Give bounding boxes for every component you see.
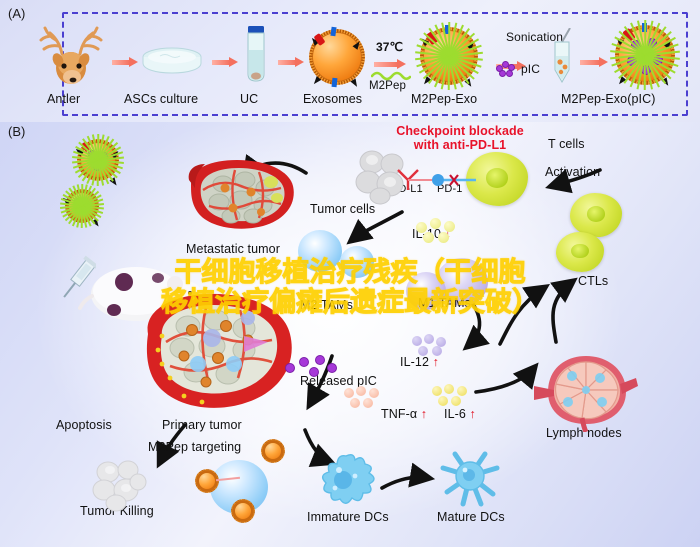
free-exosome-icon <box>66 190 98 222</box>
temperature-annotation: 37℃ <box>376 40 403 54</box>
il10-cytokine-cluster <box>416 218 458 244</box>
lymph-node-illustration <box>530 352 638 432</box>
watermark-line-1: 干细胞移植治疗残疾（干细胞 <box>0 258 700 288</box>
chinese-watermark: 干细胞移植治疗残疾（干细胞 移植治疗偏瘫后遗症最新突破） <box>0 258 700 318</box>
released-pic-cluster <box>286 356 340 378</box>
mature-dc-illustration <box>435 446 505 512</box>
pic-label: pIC <box>521 62 540 76</box>
watermark-line-2: 移植治疗偏瘫后遗症最新突破） <box>0 288 700 318</box>
process-arrow-1 <box>112 58 138 67</box>
free-exosome-icon <box>78 140 118 180</box>
tumor-killing-illustration <box>88 456 150 512</box>
panel-a-step-label-antler: Antler <box>47 92 80 106</box>
il-6-name: IL-6 <box>444 407 466 421</box>
peptide-exosome-icon <box>421 28 477 84</box>
apoptosis-label: Apoptosis <box>56 418 112 432</box>
panel-a-step-label-m2pep-exo-pic: M2Pep-Exo(pIC) <box>561 92 656 106</box>
immature-dc-illustration <box>313 450 379 512</box>
panel-a-step-label-asc: ASCs culture <box>124 92 198 106</box>
process-arrow-3 <box>278 58 304 67</box>
panel-b-label: (B) <box>8 124 25 139</box>
peptide-label: M2Pep <box>369 80 406 92</box>
panel-a: (A) Antler <box>0 0 700 122</box>
il12-cytokine-cluster <box>412 334 454 358</box>
primary-tumor-label: Primary tumor <box>162 418 242 432</box>
m2pep-targeting-label: M2Pep targeting <box>148 440 241 454</box>
t-cells-label: T cells <box>548 137 585 151</box>
loaded-exosome-icon <box>616 26 674 84</box>
targeting-exosome-icon <box>232 500 254 522</box>
panel-a-label: (A) <box>8 6 25 21</box>
checkpoint-line-1: Checkpoint blockade <box>374 124 546 138</box>
surface-marker-icon <box>332 78 338 87</box>
tnf-alpha-trend-arrow: ↑ <box>421 407 427 421</box>
sonicator-tube-icon <box>548 28 576 90</box>
metastatic-tumor-illustration <box>185 158 300 250</box>
mature-dcs-label: Mature DCs <box>437 510 505 524</box>
process-arrow-6 <box>580 58 608 67</box>
panel-a-step-label-exosomes: Exosomes <box>303 92 362 106</box>
process-arrow-2 <box>212 58 238 67</box>
exosome-icon <box>310 30 364 84</box>
il6-cytokine-cluster <box>432 384 476 408</box>
tnf-alpha-cytokine-cluster <box>344 386 388 410</box>
centrifuge-tube-icon <box>243 26 269 84</box>
pd-l1-pd-1-interaction <box>392 166 482 194</box>
deer-icon <box>36 24 110 86</box>
il-6-cytokine-label: IL-6 ↑ <box>444 407 476 421</box>
petri-dish-icon <box>140 44 204 76</box>
pic-cluster-icon <box>497 62 519 78</box>
il-6-trend-arrow: ↑ <box>470 407 476 421</box>
panel-a-step-label-m2pep-exo: M2Pep-Exo <box>411 92 477 106</box>
activation-label: Activation <box>545 165 600 179</box>
figure-canvas: (A) Antler <box>0 0 700 547</box>
targeting-exosome-icon <box>262 440 284 462</box>
immature-dcs-label: Immature DCs <box>307 510 389 524</box>
ctl-cell-illustration <box>570 193 622 237</box>
panel-a-step-label-uc: UC <box>240 92 258 106</box>
targeting-exosome-icon <box>196 470 218 492</box>
